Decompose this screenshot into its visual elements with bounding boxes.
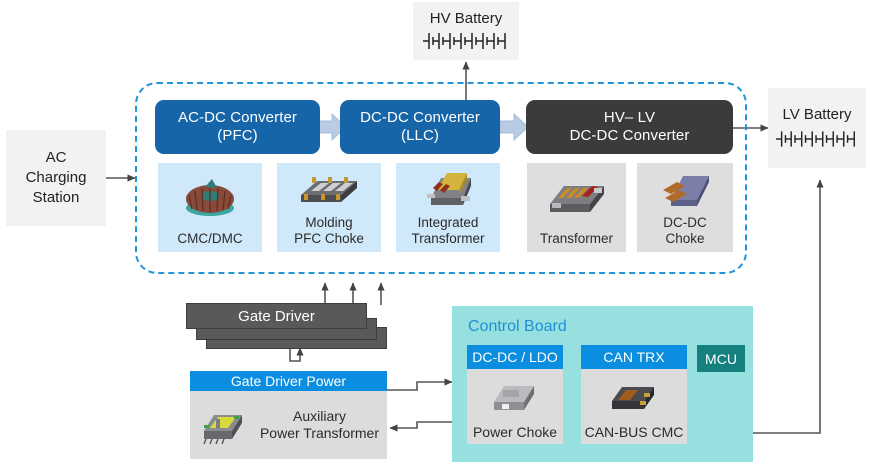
converter-dc-dc-llc[interactable]: DC-DC Converter (LLC) [340,100,500,154]
can-bus-cmc-icon [606,369,662,424]
converter-dc-dc-llc-line1: DC-DC Converter [360,109,480,127]
component-caption: Molding PFC Choke [294,215,364,247]
gate-driver-layer-1[interactable]: Gate Driver [186,303,367,329]
converter-hv-lv-line2: DC-DC Converter [570,127,690,145]
lv-battery-box: LV Battery [768,88,866,168]
component-caption: CMC/DMC [177,231,242,247]
can-bus-cmc-caption: CAN-BUS CMC [585,424,684,440]
hv-battery-label: HV Battery [430,10,503,27]
control-board-title: Control Board [468,318,567,336]
hv-battery-box: HV Battery [413,2,519,60]
block-diagram-canvas: AC Charging Station HV Battery [0,0,869,464]
component-tile-cmc-dmc[interactable]: CMC/DMC [158,163,262,252]
power-choke-icon [488,369,542,424]
can-trx-body: CAN-BUS CMC [581,369,687,444]
component-caption: Transformer [540,231,613,247]
component-caption: DC-DC Choke [663,215,707,247]
integrated-transformer-icon [396,163,500,215]
ac-charging-station-label: AC Charging Station [26,148,87,209]
battery-cells-icon [421,30,511,52]
mcu-block[interactable]: MCU [697,345,745,372]
battery-cells-icon [774,128,860,150]
control-block-dc-dc-ldo[interactable]: DC-DC / LDO Power Choke [467,345,563,444]
gate-driver-power-block[interactable]: Gate Driver Power [190,371,387,459]
lv-battery-label: LV Battery [783,106,852,123]
power-choke-caption: Power Choke [473,424,557,440]
aux-transformer-caption: Auxiliary Power Transformer [252,408,387,443]
converter-hv-lv-line1: HV– LV [570,109,690,127]
converter-ac-dc-pfc-line2: (PFC) [178,127,297,145]
mcu-label: MCU [705,351,737,367]
dc-dc-ldo-header: DC-DC / LDO [467,345,563,369]
component-tile-dc-dc-choke[interactable]: DC-DC Choke [637,163,733,252]
component-caption: Integrated Transformer [411,215,484,247]
component-tile-transformer[interactable]: Transformer [527,163,626,252]
molded-choke-icon [277,163,381,215]
transformer-icon [527,163,626,231]
converter-hv-lv-dc-dc[interactable]: HV– LV DC-DC Converter [526,100,733,154]
converter-dc-dc-llc-line2: (LLC) [360,127,480,145]
aux-transformer-icon [190,403,252,447]
component-tile-molding-pfc-choke[interactable]: Molding PFC Choke [277,163,381,252]
gate-driver-label: Gate Driver [187,304,366,328]
dc-dc-ldo-body: Power Choke [467,369,563,444]
converter-ac-dc-pfc[interactable]: AC-DC Converter (PFC) [155,100,320,154]
can-trx-header: CAN TRX [581,345,687,369]
dc-dc-choke-icon [637,163,733,215]
ac-charging-station-box: AC Charging Station [6,130,106,226]
gate-driver-power-body: Auxiliary Power Transformer [190,391,387,459]
control-block-can-trx[interactable]: CAN TRX CAN-BUS CMC [581,345,687,444]
converter-ac-dc-pfc-line1: AC-DC Converter [178,109,297,127]
component-tile-integrated-transformer[interactable]: Integrated Transformer [396,163,500,252]
gate-driver-power-header: Gate Driver Power [190,371,387,391]
toroidal-choke-icon [158,163,262,231]
